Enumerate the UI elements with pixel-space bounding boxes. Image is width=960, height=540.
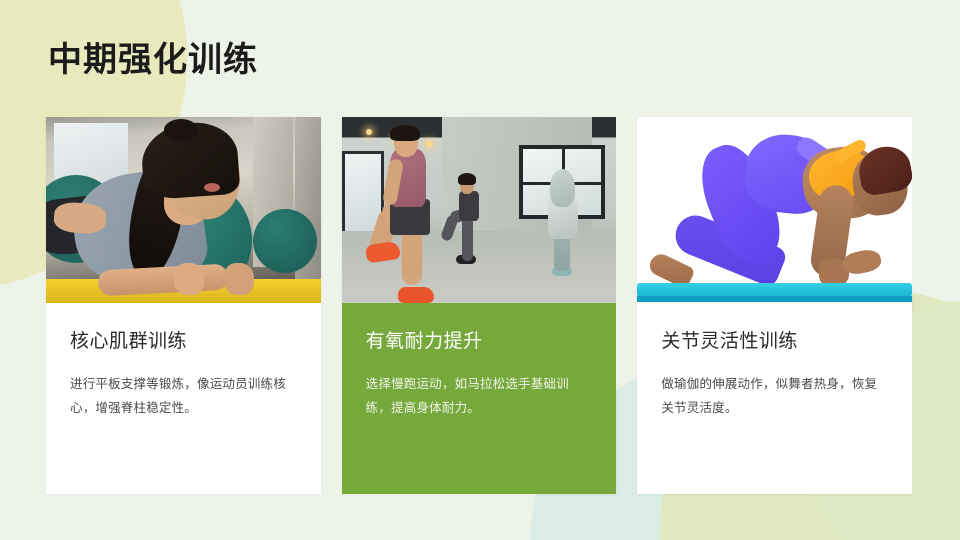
card-body-aerobic-endurance: 有氧耐力提升 选择慢跑运动，如马拉松选手基础训练，提高身体耐力。 bbox=[342, 303, 617, 420]
card-text-core-training: 进行平板支撑等锻炼，像运动员训练核心，增强脊柱稳定性。 bbox=[70, 372, 297, 421]
athlete-fist-left-shape bbox=[174, 263, 204, 295]
card-joint-flexibility[interactable]: 关节灵活性训练 做瑜伽的伸展动作，似舞者热身，恢复关节灵活度。 bbox=[637, 117, 912, 494]
woman-standing-leg-shape bbox=[462, 217, 473, 261]
athlete-lips-shape bbox=[204, 183, 220, 192]
man-shoe-standing-shape bbox=[398, 287, 434, 303]
woman-hair-shape bbox=[458, 173, 476, 185]
card-image-joint-flexibility bbox=[637, 117, 912, 303]
presentation-slide: 中期强化训练 bbox=[0, 0, 960, 540]
ceiling-lamp-icon-1 bbox=[366, 129, 372, 135]
exercise-ball-right bbox=[253, 209, 317, 273]
card-title-joint-flexibility: 关节灵活性训练 bbox=[661, 329, 888, 355]
card-title-core-training: 核心肌群训练 bbox=[70, 329, 297, 355]
card-body-core-training: 核心肌群训练 进行平板支撑等锻炼，像运动员训练核心，增强脊柱稳定性。 bbox=[46, 303, 321, 420]
page-title: 中期强化训练 bbox=[48, 38, 258, 82]
woman-top-shape bbox=[459, 191, 479, 221]
man-standing-leg-shape bbox=[402, 227, 422, 285]
card-aerobic-endurance[interactable]: 有氧耐力提升 选择慢跑运动，如马拉松选手基础训练，提高身体耐力。 bbox=[342, 117, 617, 494]
card-image-aerobic-endurance bbox=[342, 117, 617, 303]
yoga-hand-right-shape bbox=[841, 247, 883, 276]
athlete-hair-tie-shape bbox=[164, 119, 198, 141]
card-core-training[interactable]: 核心肌群训练 进行平板支撑等锻炼，像运动员训练核心，增强脊柱稳定性。 bbox=[46, 117, 321, 494]
man-hair-shape bbox=[390, 125, 420, 141]
card-text-aerobic-endurance: 选择慢跑运动，如马拉松选手基础训练，提高身体耐力。 bbox=[366, 372, 593, 421]
card-title-aerobic-endurance: 有氧耐力提升 bbox=[366, 329, 593, 355]
ceiling-lamp-icon-3 bbox=[426, 141, 432, 147]
card-image-core-training bbox=[46, 117, 321, 303]
card-body-joint-flexibility: 关节灵活性训练 做瑜伽的伸展动作，似舞者热身，恢复关节灵活度。 bbox=[637, 303, 912, 420]
hijabi-scarf-shape bbox=[550, 169, 575, 207]
yoga-mat-shape bbox=[637, 283, 912, 297]
yoga-mat-edge-shape bbox=[637, 296, 912, 302]
card-text-joint-flexibility: 做瑜伽的伸展动作，似舞者热身，恢复关节灵活度。 bbox=[661, 372, 888, 421]
athlete-fist-right-shape bbox=[224, 263, 254, 295]
card-list: 核心肌群训练 进行平板支撑等锻炼，像运动员训练核心，增强脊柱稳定性。 bbox=[46, 117, 912, 494]
